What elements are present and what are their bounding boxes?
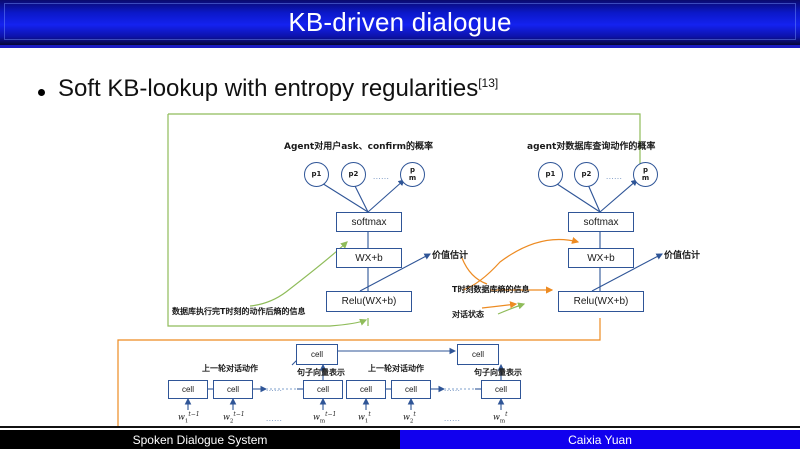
left-relu-box: Relu(WX+b)	[326, 291, 412, 312]
dialogue-state-label: 对话状态	[452, 309, 484, 320]
word-cell-ellipsis-2: ......	[444, 384, 460, 393]
slide-footer: Spoken Dialogue System Caixia Yuan	[0, 430, 800, 449]
left-value-estimate-label: 价值估计	[432, 248, 468, 261]
bullet-text: Soft KB-lookup with entropy regularities…	[58, 75, 498, 103]
footer-course-label: Spoken Dialogue System	[0, 430, 400, 449]
right-softmax-box: softmax	[568, 212, 634, 232]
right-db-entropy-label: T时刻数据库熵的信息	[452, 284, 529, 295]
bullet-dot-icon	[38, 89, 45, 96]
left-policy-header: Agent对用户ask、confirm的概率	[284, 139, 433, 152]
right-output-ellipsis: ......	[606, 172, 622, 181]
right-linear-box: WX+b	[568, 248, 634, 268]
slide-title-bar: KB-driven dialogue	[0, 0, 800, 45]
token-label-2-2: w2t	[403, 411, 416, 424]
word-cell-2-1: cell	[346, 380, 386, 399]
slide-canvas: KB-driven dialogue Soft KB-lookup with e…	[0, 0, 800, 449]
footer-divider	[0, 426, 800, 428]
word-cell-1-m: cell	[303, 380, 343, 399]
left-db-entropy-label: 数据库执行完T时刻的动作后熵的信息	[172, 306, 305, 317]
sentence-cell-turn-t-minus-1: cell	[296, 344, 338, 365]
right-output-node-p1: p1	[538, 162, 563, 187]
title-underline	[0, 45, 800, 48]
word-cell-ellipsis-1: ......	[266, 384, 282, 393]
left-output-node-p2: p2	[341, 162, 366, 187]
citation-marker: [13]	[478, 76, 498, 90]
sentence-vector-label-1: 句子向量表示	[297, 367, 345, 378]
token-label-1-2: w2t−1	[223, 411, 245, 424]
sentence-cell-turn-t: cell	[457, 344, 499, 365]
right-policy-header: agent对数据库查询动作的概率	[527, 139, 655, 152]
token-label-1-1: w1t−1	[178, 411, 200, 424]
prev-action-label-1: 上一轮对话动作	[202, 363, 258, 374]
token-ellipsis-1: ......	[266, 414, 282, 423]
sentence-vector-label-2: 句子向量表示	[474, 367, 522, 378]
footer-author-label: Caixia Yuan	[400, 430, 800, 449]
bullet-label: Soft KB-lookup with entropy regularities	[58, 75, 478, 102]
left-softmax-box: softmax	[336, 212, 402, 232]
left-output-node-pm: pm	[400, 162, 425, 187]
word-cell-2-m: cell	[481, 380, 521, 399]
token-label-2-m: wmt	[493, 411, 508, 424]
right-relu-box: Relu(WX+b)	[558, 291, 644, 312]
token-label-2-1: w1t	[358, 411, 371, 424]
left-output-ellipsis: ......	[373, 172, 389, 181]
architecture-diagram: Agent对用户ask、confirm的概率 p1 p2 ...... pm s…	[0, 108, 800, 426]
word-cell-2-2: cell	[391, 380, 431, 399]
token-ellipsis-2: ......	[444, 414, 460, 423]
prev-action-label-2: 上一轮对话动作	[368, 363, 424, 374]
bullet-row: Soft KB-lookup with entropy regularities…	[38, 75, 498, 103]
left-linear-box: WX+b	[336, 248, 402, 268]
right-value-estimate-label: 价值估计	[664, 248, 700, 261]
token-label-1-m: wmt−1	[313, 411, 336, 424]
right-output-node-pm: pm	[633, 162, 658, 187]
left-output-node-p1: p1	[304, 162, 329, 187]
word-cell-1-2: cell	[213, 380, 253, 399]
right-output-node-p2: p2	[574, 162, 599, 187]
page-title: KB-driven dialogue	[288, 7, 511, 38]
word-cell-1-1: cell	[168, 380, 208, 399]
